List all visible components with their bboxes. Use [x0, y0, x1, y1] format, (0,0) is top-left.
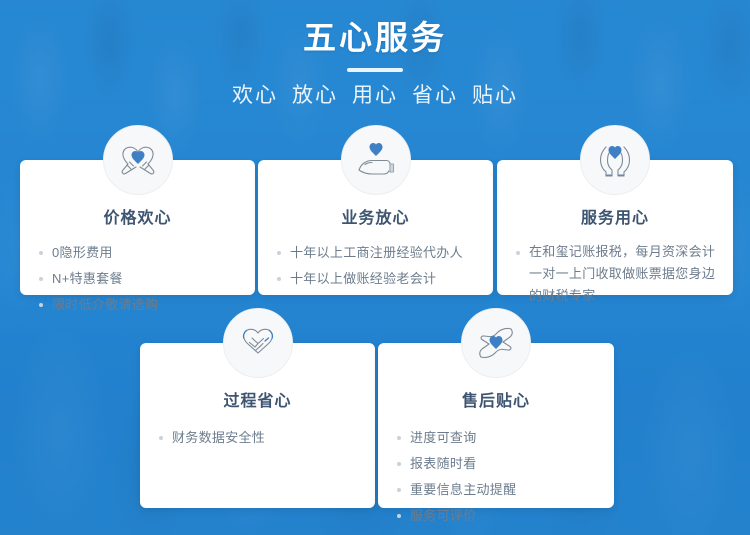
two-hands-cradling-heart-icon [461, 308, 531, 378]
subtitle-keyword-5: 贴心 [472, 84, 518, 107]
hands-forming-heart-icon [103, 125, 173, 195]
subtitle-keyword-1: 欢心 [232, 84, 278, 107]
list-item: 财务数据安全性 [156, 426, 361, 449]
card-feature-list: 在和玺记账报税，每月资深会计一对一上门收取做账票据您身边的财税专家 [497, 241, 733, 307]
list-item: 十年以上做账经验老会计 [274, 267, 479, 290]
list-item: 在和玺记账报税，每月资深会计一对一上门收取做账票据您身边的财税专家 [513, 241, 719, 307]
service-card-business[interactable]: 业务放心 十年以上工商注册经验代办人 十年以上做账经验老会计 [258, 160, 493, 295]
card-title: 售后贴心 [378, 391, 614, 413]
cupped-hands-holding-heart-icon [580, 125, 650, 195]
service-card-process[interactable]: 过程省心 财务数据安全性 [140, 343, 375, 508]
card-feature-list: 进度可查询 报表随时看 重要信息主动提醒 服务可评价 [378, 426, 614, 527]
handshake-heart-icon [223, 308, 293, 378]
subtitle-keyword-4: 省心 [412, 84, 458, 107]
list-item: 报表随时看 [394, 452, 600, 475]
list-item: 0隐形费用 [36, 241, 241, 264]
page-title: 五心服务 [0, 18, 750, 58]
list-item: N+特惠套餐 [36, 267, 241, 290]
card-title: 价格欢心 [20, 208, 255, 230]
card-feature-list: 财务数据安全性 [140, 426, 375, 449]
subtitle-keywords: 欢心放心用心省心贴心 [0, 83, 750, 109]
list-item: 重要信息主动提醒 [394, 478, 600, 501]
card-title: 过程省心 [140, 391, 375, 413]
card-title: 业务放心 [258, 208, 493, 230]
promo-banner: 五心服务 欢心放心用心省心贴心 价格欢心 0隐形费用 N+特惠套餐 限时低介敬请… [0, 0, 750, 535]
subtitle-keyword-3: 用心 [352, 84, 398, 107]
list-item: 服务可评价 [394, 504, 600, 527]
list-item: 十年以上工商注册经验代办人 [274, 241, 479, 264]
service-card-service[interactable]: 服务用心 在和玺记账报税，每月资深会计一对一上门收取做账票据您身边的财税专家 [497, 160, 733, 295]
subtitle-keyword-2: 放心 [292, 84, 338, 107]
service-card-price[interactable]: 价格欢心 0隐形费用 N+特惠套餐 限时低介敬请选购 [20, 160, 255, 295]
header: 五心服务 欢心放心用心省心贴心 [0, 18, 750, 109]
card-feature-list: 0隐形费用 N+特惠套餐 限时低介敬请选购 [20, 241, 255, 316]
list-item: 限时低介敬请选购 [36, 293, 241, 316]
service-card-aftersales[interactable]: 售后贴心 进度可查询 报表随时看 重要信息主动提醒 服务可评价 [378, 343, 614, 508]
title-divider [347, 68, 403, 72]
list-item: 进度可查询 [394, 426, 600, 449]
open-hand-with-heart-icon [341, 125, 411, 195]
card-title: 服务用心 [497, 208, 733, 230]
card-feature-list: 十年以上工商注册经验代办人 十年以上做账经验老会计 [258, 241, 493, 290]
